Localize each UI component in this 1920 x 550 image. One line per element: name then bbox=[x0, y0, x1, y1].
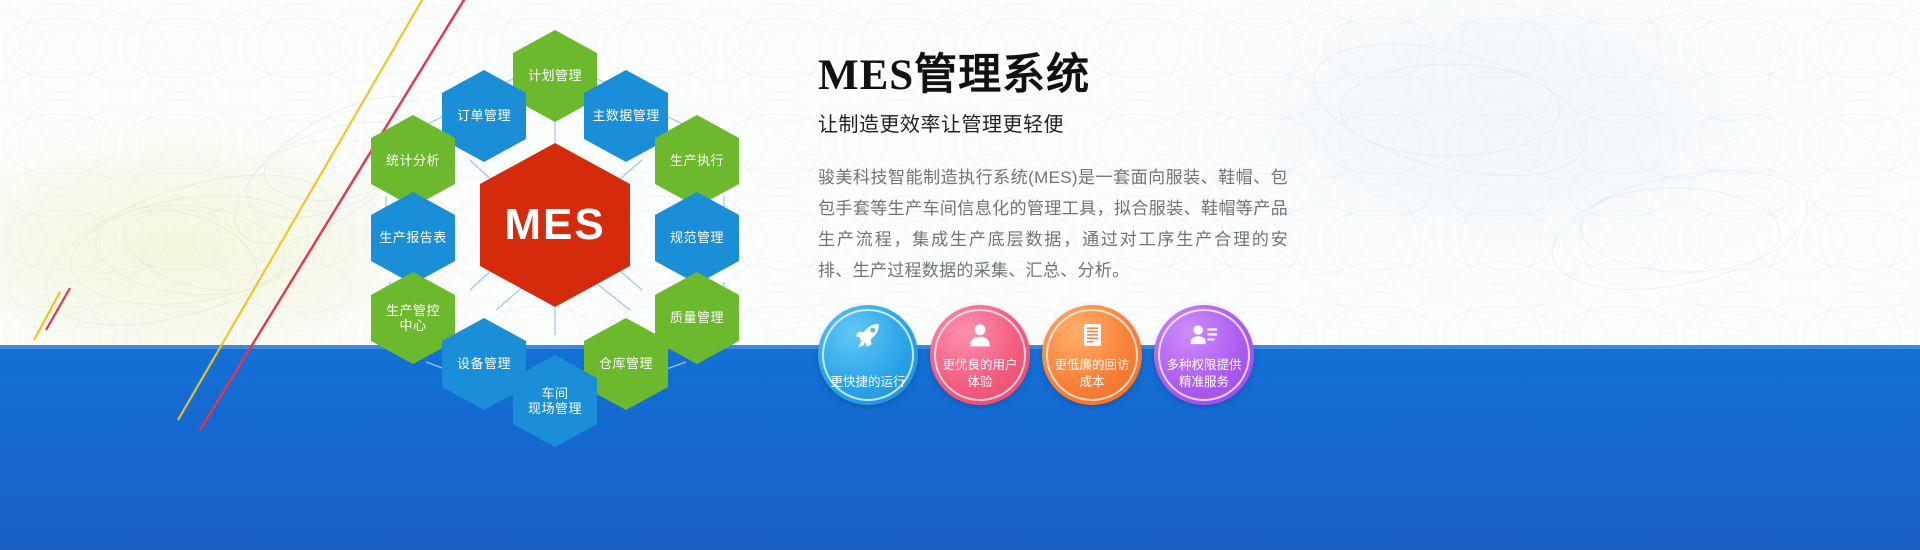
user-list-icon bbox=[1154, 318, 1254, 352]
badge-label: 多种权限提供精准服务 bbox=[1158, 357, 1250, 391]
hero-description: 骏美科技智能制造执行系统(MES)是一套面向服装、鞋帽、包包手套等生产车间信息化… bbox=[818, 163, 1288, 287]
badge-label: 更快捷的运行 bbox=[822, 374, 914, 391]
badge-label: 更优良的用户体验 bbox=[934, 357, 1026, 391]
mes-hero-banner: MES 计划管理 订单管理 主数据管理 统计分析 生产执行 生产报告表 规范管理… bbox=[0, 0, 1920, 550]
feature-badge-permissions[interactable]: 多种权限提供精准服务 bbox=[1154, 305, 1254, 405]
feature-badge-fast-operation[interactable]: 更快捷的运行 bbox=[818, 305, 918, 405]
hero-text-column: MES管理系统 让制造更效率让管理更轻便 骏美科技智能制造执行系统(MES)是一… bbox=[818, 52, 1288, 287]
feature-badge-user-experience[interactable]: 更优良的用户体验 bbox=[930, 305, 1030, 405]
feature-badge-low-revisit-cost[interactable]: 更低廉的回访成本 bbox=[1042, 305, 1142, 405]
page-subtitle: 让制造更效率让管理更轻便 bbox=[818, 108, 1288, 137]
badge-label: 更低廉的回访成本 bbox=[1046, 357, 1138, 391]
user-icon bbox=[930, 318, 1030, 352]
document-icon bbox=[1042, 318, 1142, 352]
rocket-icon bbox=[818, 318, 918, 352]
feature-badge-list: 更快捷的运行 更优良的用户体验 bbox=[818, 305, 1298, 405]
page-title: MES管理系统 bbox=[818, 52, 1288, 99]
mes-hexagon-diagram: MES 计划管理 订单管理 主数据管理 统计分析 生产执行 生产报告表 规范管理… bbox=[330, 10, 800, 440]
